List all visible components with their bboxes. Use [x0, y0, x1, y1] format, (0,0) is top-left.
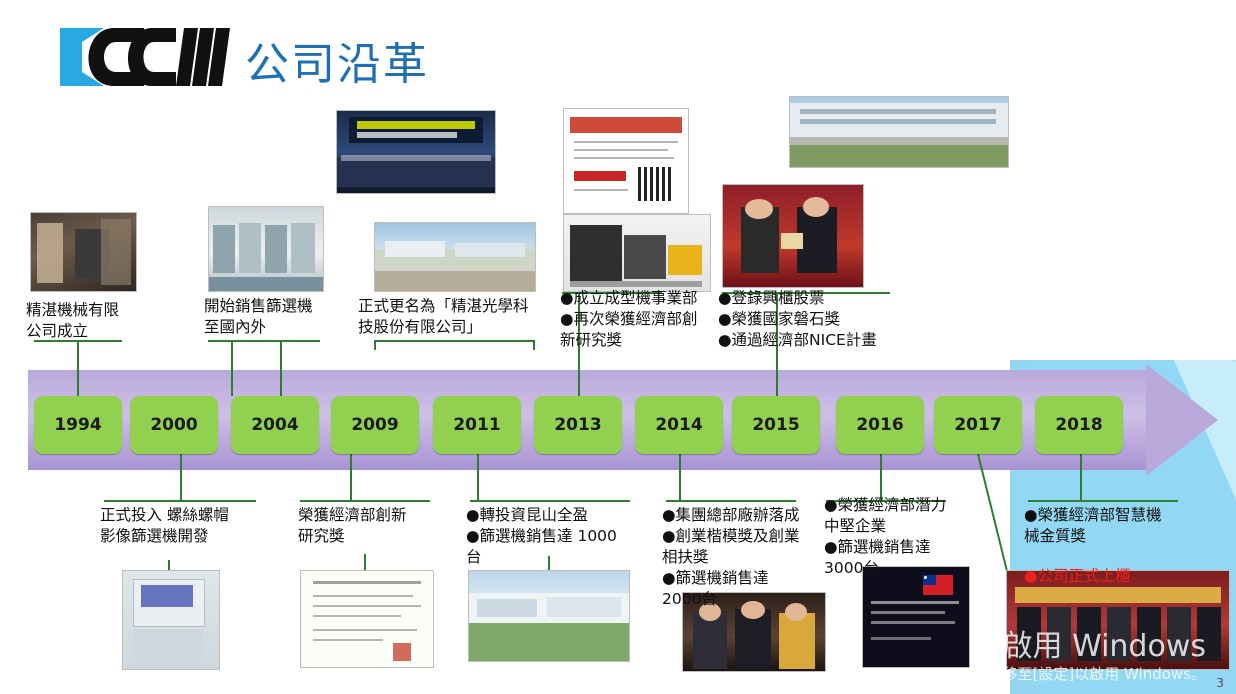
year-chip-1994[interactable]: 1994 [34, 396, 122, 454]
connector-2009-down [350, 454, 352, 500]
year-chip-2000[interactable]: 2000 [130, 396, 218, 454]
event-text-2014-below: ●集團總部廠辦落成 ●創業楷模獎及創業 相扶獎 ●篩選機銷售達 2000台 [662, 505, 808, 610]
year-chip-2009[interactable]: 2009 [331, 396, 419, 454]
connector-2000-down [180, 454, 182, 500]
photo-2015-headquarters [789, 96, 1009, 168]
connector-1994 [77, 340, 79, 396]
connector-2000-up [231, 340, 233, 396]
connector-2011-down [477, 454, 479, 500]
event-text-2016-below: ●榮獲經濟部潛力 中堅企業 ●篩選機銷售達 3000台 [824, 495, 976, 579]
photo-2013-molding-machine [563, 214, 711, 292]
photo-innovation-certificate [300, 570, 434, 668]
connector-2000-down-h [104, 500, 256, 502]
photo-lab-equipment [122, 570, 220, 670]
connector-2000-up-h [208, 340, 320, 342]
event-text-1994: 精湛機械有限 公司成立 [26, 300, 166, 342]
photo-2004-factory [374, 222, 536, 292]
event-text-2009-below: 榮獲經濟部創新 研究獎 [298, 505, 448, 547]
photo-kunshan-plant [468, 570, 630, 662]
event-text-2000-below: 正式投入 螺絲螺帽 影像篩選機開發 [100, 505, 300, 547]
connector-2011-down-h [470, 500, 630, 502]
event-text-2000: 開始銷售篩選機 至國內外 [204, 296, 364, 338]
event-text-2013: ●成立成型機事業部 ●再次榮獲經濟部創 新研究獎 [560, 288, 712, 351]
year-chip-2013[interactable]: 2013 [534, 396, 622, 454]
photo-1994-interview [30, 212, 137, 292]
year-chip-2011[interactable]: 2011 [433, 396, 521, 454]
event-text-2018-listing-label: ●公司正式上櫃 [1024, 567, 1131, 585]
connector-2009-down2 [364, 554, 366, 570]
year-chip-2018[interactable]: 2018 [1035, 396, 1123, 454]
connector-2004-b [374, 340, 376, 350]
ccm-logo-icon [52, 22, 232, 92]
event-text-2018-below-listing: ●公司正式上櫃 [1024, 545, 1194, 587]
page-number: 3 [1216, 676, 1224, 690]
event-text-2004: 正式更名為「精湛光學科 技股份有限公司」 [358, 296, 543, 338]
year-chip-2015[interactable]: 2015 [732, 396, 820, 454]
event-text-2018-below: ●榮獲經濟部智慧機 械金質獎 [1024, 505, 1184, 547]
photo-2011-certificate [563, 108, 689, 214]
windows-activation-watermark: 啟用 Windows 移至[設定]以啟用 Windows。 [1003, 630, 1206, 684]
page-title: 公司沿革 [245, 28, 429, 92]
event-text-2011-below: ●轉投資昆山全盈 ●篩選機銷售達 1000 台 [466, 505, 636, 568]
year-chip-2014[interactable]: 2014 [635, 396, 723, 454]
connector-2009-down-h [300, 500, 430, 502]
event-text-2015: ●登錄興櫃股票 ●榮獲國家磐石獎 ●通過經濟部NICE計畫 [718, 288, 898, 351]
photo-2009-nice-ceremony [336, 110, 496, 194]
connector-2004 [280, 340, 282, 396]
year-chip-2017[interactable]: 2017 [934, 396, 1022, 454]
photo-2000-machines [208, 206, 324, 292]
connector-2014-down [679, 454, 681, 500]
connector-2004-c [533, 340, 535, 350]
watermark-subtitle: 移至[設定]以啟用 Windows。 [1003, 664, 1206, 684]
year-chip-2016[interactable]: 2016 [836, 396, 924, 454]
photo-2015-president-award [722, 184, 864, 288]
connector-2004-h [374, 340, 534, 342]
watermark-title: 啟用 Windows [1003, 630, 1206, 664]
connector-2014-down-h [666, 500, 796, 502]
photo-potential-enterprise-certificate [862, 566, 970, 668]
year-chip-2004[interactable]: 2004 [231, 396, 319, 454]
